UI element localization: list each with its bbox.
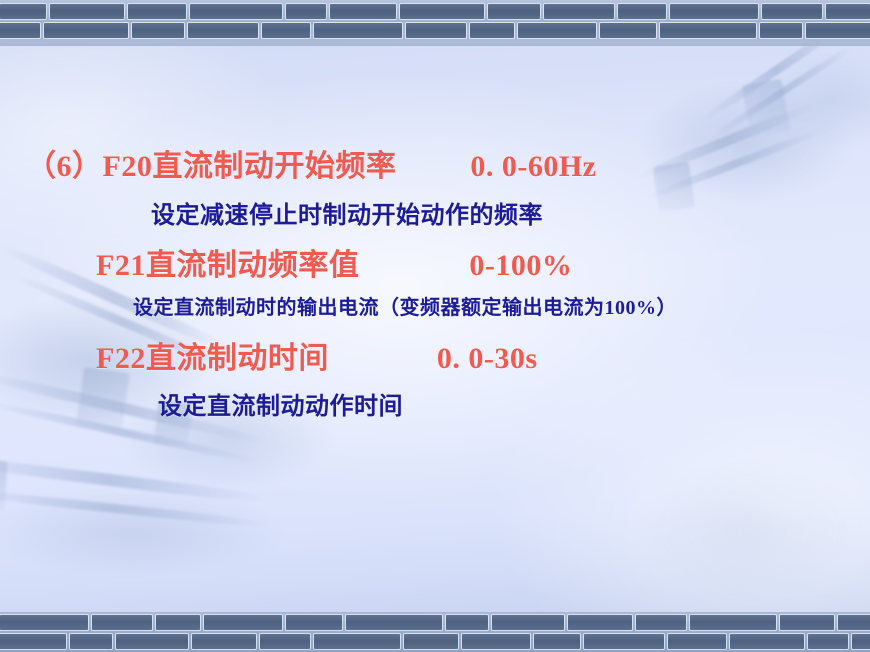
parameter-title-f20: （6）F20直流制动开始频率 [26,150,396,183]
parameter-title-f22: F22直流制动时间 [96,342,329,375]
parameter-value-f22: 0. 0-30s [437,342,538,376]
parameter-line-f21: F21直流制动频率值0-100% [96,240,572,284]
parameter-description-f20: 设定减速停止时制动开始动作的频率 [151,195,543,230]
parameter-line-f22: F22直流制动时间0. 0-30s [96,333,538,377]
parameter-title-f21: F21直流制动频率值 [96,249,359,282]
parameter-line-f20: （6）F20直流制动开始频率0. 0-60Hz [26,141,596,185]
parameter-value-f20: 0. 0-60Hz [470,150,596,184]
slide-content: （6）F20直流制动开始频率0. 0-60Hz 设定减速停止时制动开始动作的频率… [0,0,870,652]
parameter-description-f21: 设定直流制动时的输出电流（变频器额定输出电流为100%） [133,291,677,320]
parameter-value-f21: 0-100% [469,249,572,283]
parameter-description-f22: 设定直流制动动作时间 [158,386,403,421]
slide-canvas: （6）F20直流制动开始频率0. 0-60Hz 设定减速停止时制动开始动作的频率… [0,0,870,652]
